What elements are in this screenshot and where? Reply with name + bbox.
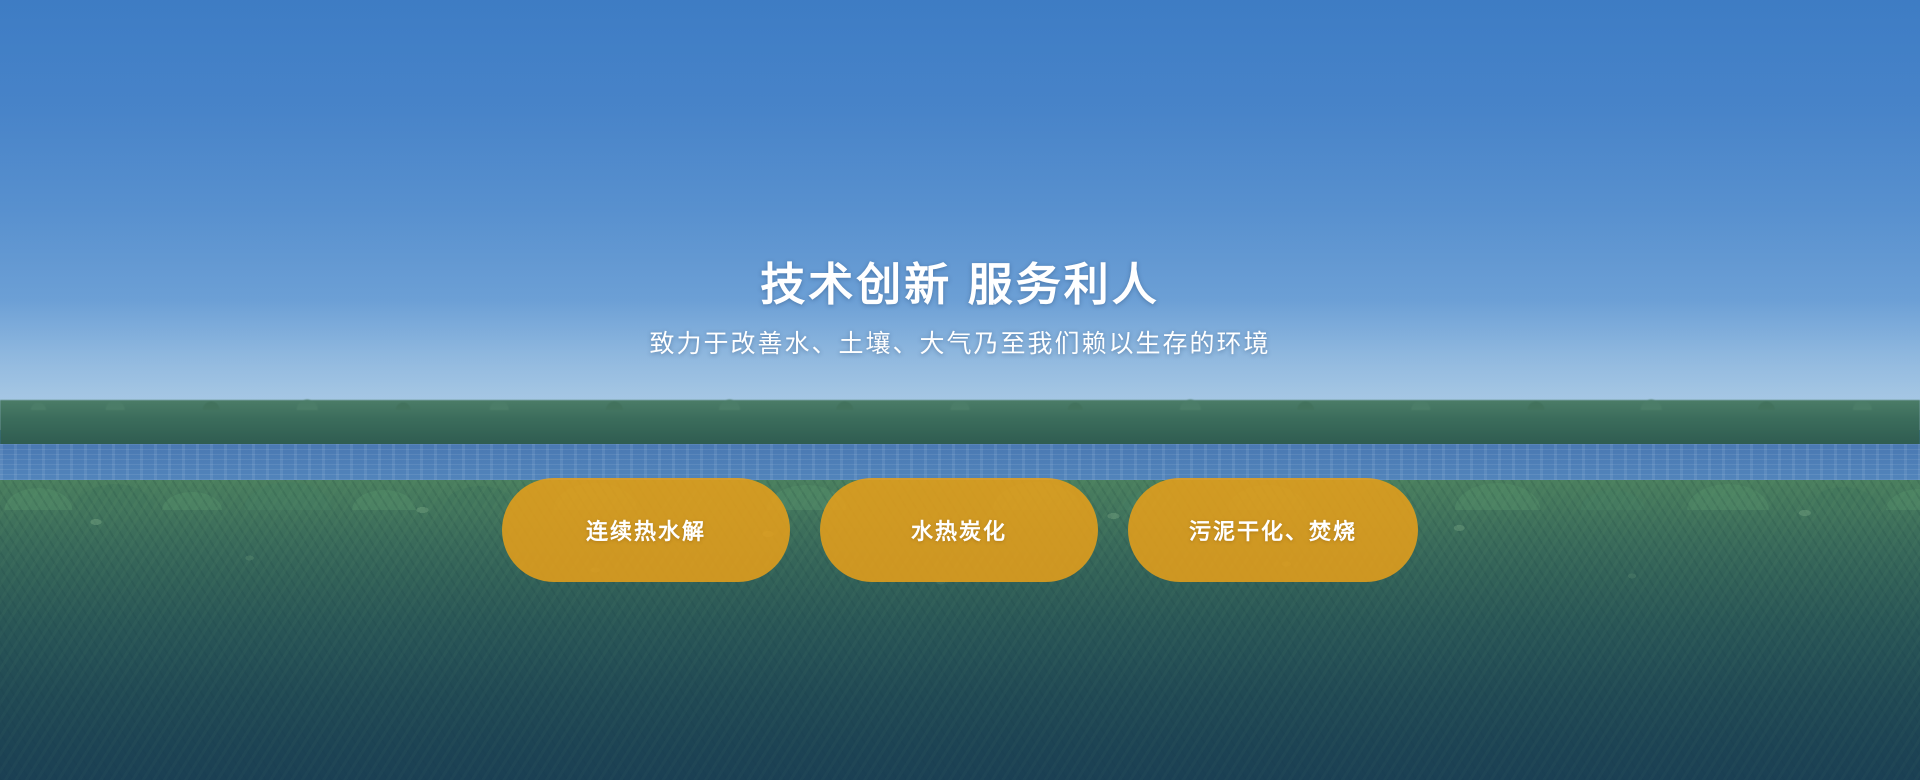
far-treeline — [0, 400, 1920, 446]
pill-button-continuous-thermal-hydrolysis[interactable]: 连续热水解 — [502, 478, 790, 582]
pill-button-sludge-drying-incineration[interactable]: 污泥干化、焚烧 — [1128, 478, 1418, 582]
hero-title: 技术创新 服务利人 — [0, 258, 1920, 312]
service-pill-row: 连续热水解 水热炭化 污泥干化、焚烧 — [0, 478, 1920, 582]
hero-copy-block: 技术创新 服务利人 致力于改善水、土壤、大气乃至我们赖以生存的环境 — [0, 258, 1920, 361]
hero-subtitle: 致力于改善水、土壤、大气乃至我们赖以生存的环境 — [0, 328, 1920, 361]
pill-button-hydrothermal-carbonization[interactable]: 水热炭化 — [820, 478, 1098, 582]
hero-banner: 技术创新 服务利人 致力于改善水、土壤、大气乃至我们赖以生存的环境 连续热水解 … — [0, 0, 1920, 780]
